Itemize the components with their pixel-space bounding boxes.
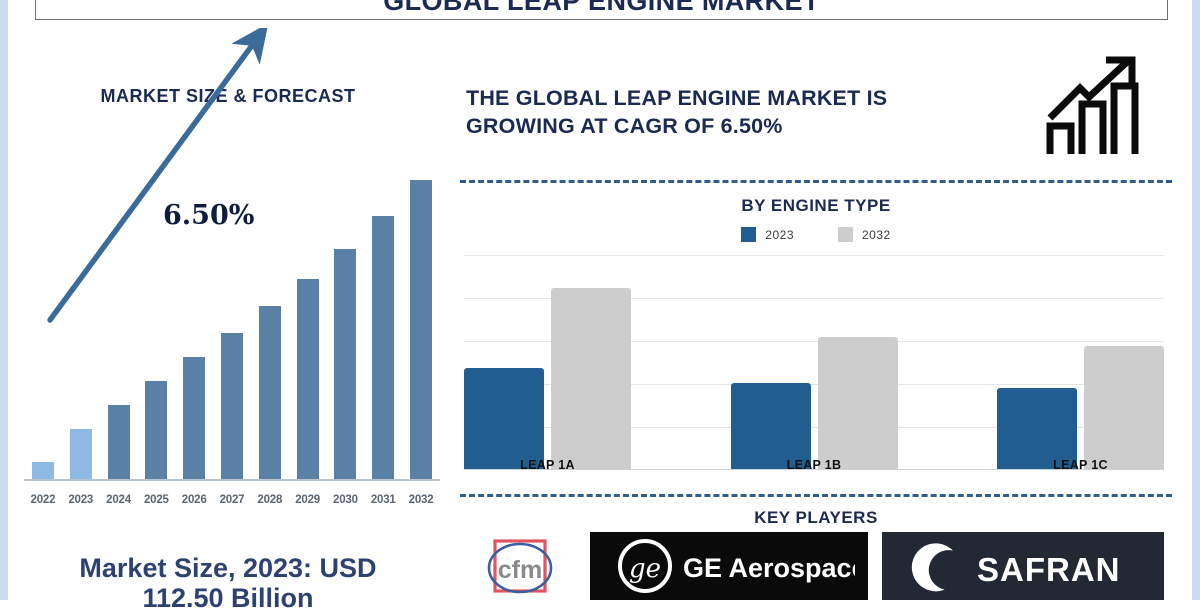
forecast-x-label: 2023 [62, 494, 100, 506]
engine-bar-groups [464, 270, 1164, 470]
engine-bar-2023 [731, 383, 811, 470]
forecast-x-label: 2027 [213, 494, 251, 506]
gridline [464, 255, 1164, 256]
forecast-x-label: 2025 [137, 494, 175, 506]
forecast-x-label: 2026 [175, 494, 213, 506]
forecast-x-label: 2028 [251, 494, 289, 506]
forecast-bar [221, 333, 243, 480]
market-size-forecast-panel: MARKET SIZE & FORECAST 20222023202420252… [8, 28, 448, 600]
right-edge-strip [1192, 0, 1200, 600]
forecast-x-label: 2029 [289, 494, 327, 506]
legend-label: 2023 [765, 228, 794, 242]
bar-chart-growth-icon [1040, 52, 1150, 160]
cagr-annotation: 6.50% [163, 200, 254, 231]
market-size-line-1: Market Size, 2023: USD [8, 553, 448, 583]
cagr-tagline-line-2: GROWING AT CAGR OF 6.50% [466, 112, 1066, 140]
legend-item-2032[interactable]: 2032 [838, 227, 891, 242]
logo-ge-aerospace: ge GE Aerospace [590, 532, 868, 600]
forecast-axis-line [24, 479, 440, 481]
market-size-line-2: 112.50 Billion [8, 583, 448, 613]
engine-bar-2023 [464, 368, 544, 470]
forecast-bar [297, 279, 319, 480]
engine-bar-2032 [551, 288, 631, 470]
engine-bar-2032 [818, 337, 898, 470]
forecast-x-labels: 2022202320242025202620272028202920302031… [24, 494, 440, 506]
divider-top [460, 180, 1172, 183]
logo-safran-text: SAFRAN [977, 551, 1121, 588]
key-players-title: KEY PLAYERS [460, 508, 1172, 528]
logo-cfm-text: cfm [498, 556, 542, 584]
logo-safran: SAFRAN [882, 532, 1164, 600]
forecast-bar [410, 180, 432, 480]
logo-cfm: cfm [466, 532, 576, 600]
forecast-x-label: 2022 [24, 494, 62, 506]
market-size-value: Market Size, 2023: USD 112.50 Billion [8, 553, 448, 613]
engine-type-bar-chart [464, 255, 1164, 470]
engine-bar-group [731, 270, 898, 470]
forecast-bar-column [100, 150, 138, 480]
forecast-x-label: 2030 [327, 494, 365, 506]
by-engine-type-title: BY ENGINE TYPE [460, 196, 1172, 216]
logo-ge-text: GE Aerospace [683, 553, 855, 583]
svg-text:ge: ge [629, 554, 661, 584]
right-panel: THE GLOBAL LEAP ENGINE MARKET IS GROWING… [452, 0, 1192, 600]
legend-item-2023[interactable]: 2023 [741, 227, 794, 242]
forecast-bar-column [251, 150, 289, 480]
forecast-bar [183, 357, 205, 480]
forecast-bar [70, 429, 92, 480]
forecast-bar [108, 405, 130, 480]
forecast-bar-column [62, 150, 100, 480]
key-players-logos: cfm ge GE Aerospace SAFRAN [466, 532, 1172, 600]
engine-x-label: LEAP 1A [464, 458, 631, 472]
legend-swatch [838, 227, 853, 242]
cagr-tagline-line-1: THE GLOBAL LEAP ENGINE MARKET IS [466, 84, 1066, 112]
engine-bar-2032 [1084, 346, 1164, 470]
engine-chart-x-labels: LEAP 1ALEAP 1BLEAP 1C [464, 458, 1164, 472]
forecast-bar [372, 216, 394, 480]
engine-chart-legend: 20232032 [460, 227, 1172, 242]
market-size-forecast-heading: MARKET SIZE & FORECAST [8, 86, 448, 107]
engine-x-label: LEAP 1B [731, 458, 898, 472]
forecast-bar-chart: 2022202320242025202620272028202920302031… [16, 138, 440, 508]
forecast-bar-column [364, 150, 402, 480]
forecast-bar [32, 462, 54, 480]
left-edge-strip [0, 0, 8, 600]
cagr-tagline: THE GLOBAL LEAP ENGINE MARKET IS GROWING… [466, 84, 1066, 141]
forecast-bar [334, 249, 356, 480]
forecast-bar-column [327, 150, 365, 480]
forecast-x-label: 2024 [100, 494, 138, 506]
forecast-bar [145, 381, 167, 480]
divider-bottom [460, 494, 1172, 497]
forecast-x-label: 2031 [364, 494, 402, 506]
legend-swatch [741, 227, 756, 242]
engine-bar-group [464, 270, 631, 470]
forecast-bar-column [402, 150, 440, 480]
forecast-x-label: 2032 [402, 494, 440, 506]
forecast-bar-column [24, 150, 62, 480]
engine-bar-group [997, 270, 1164, 470]
forecast-bar-column [289, 150, 327, 480]
legend-label: 2032 [862, 228, 891, 242]
engine-x-label: LEAP 1C [997, 458, 1164, 472]
forecast-bar [259, 306, 281, 480]
